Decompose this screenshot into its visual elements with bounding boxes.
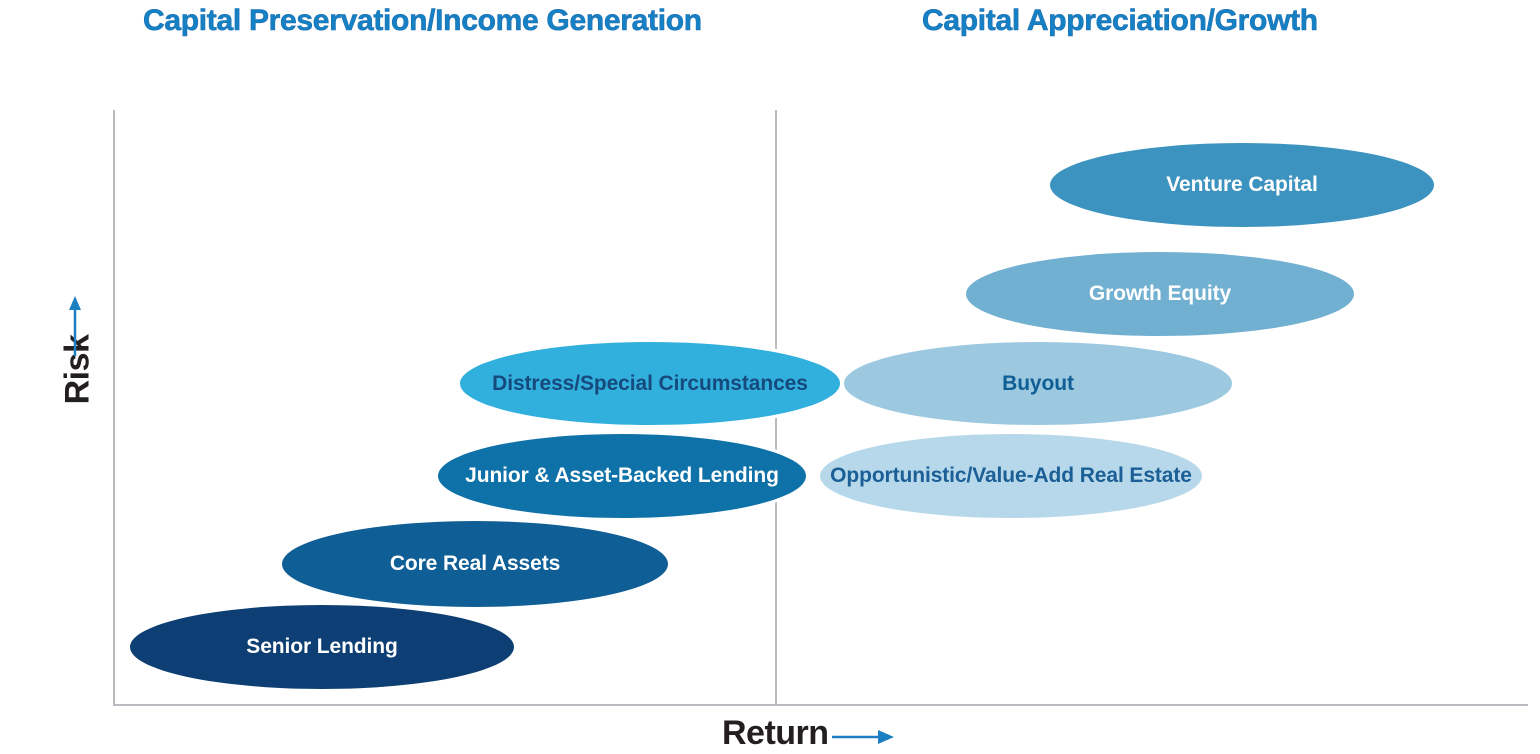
x-axis-label: Return [722,714,829,753]
asset-class-bubble[interactable]: Buyout [840,338,1236,429]
header-capital-preservation: Capital Preservation/Income Generation [143,4,702,38]
asset-class-bubble[interactable]: Distress/Special Circumstances [456,338,844,429]
asset-class-label: Core Real Assets [390,552,560,576]
asset-class-label: Growth Equity [1089,282,1231,306]
asset-class-bubble[interactable]: Core Real Assets [278,517,672,611]
asset-class-bubble[interactable]: Junior & Asset-Backed Lending [434,430,810,522]
asset-class-bubble[interactable]: Venture Capital [1046,139,1438,231]
asset-class-label: Opportunistic/Value-Add Real Estate [830,464,1192,488]
arrow-up-icon [69,296,81,356]
risk-return-diagram: Capital Preservation/Income Generation C… [0,0,1540,754]
asset-class-label: Junior & Asset-Backed Lending [465,464,779,488]
asset-class-label: Senior Lending [246,635,397,659]
asset-class-bubble[interactable]: Senior Lending [126,601,518,693]
asset-class-bubble[interactable]: Opportunistic/Value-Add Real Estate [816,430,1206,522]
asset-class-bubble[interactable]: Growth Equity [962,248,1358,340]
asset-class-label: Buyout [1002,372,1074,396]
asset-class-label: Venture Capital [1166,173,1317,197]
arrow-right-icon [832,730,894,744]
header-capital-appreciation: Capital Appreciation/Growth [922,4,1318,38]
x-axis-line [113,704,1528,706]
asset-class-label: Distress/Special Circumstances [492,372,808,396]
y-axis-line [113,110,115,706]
